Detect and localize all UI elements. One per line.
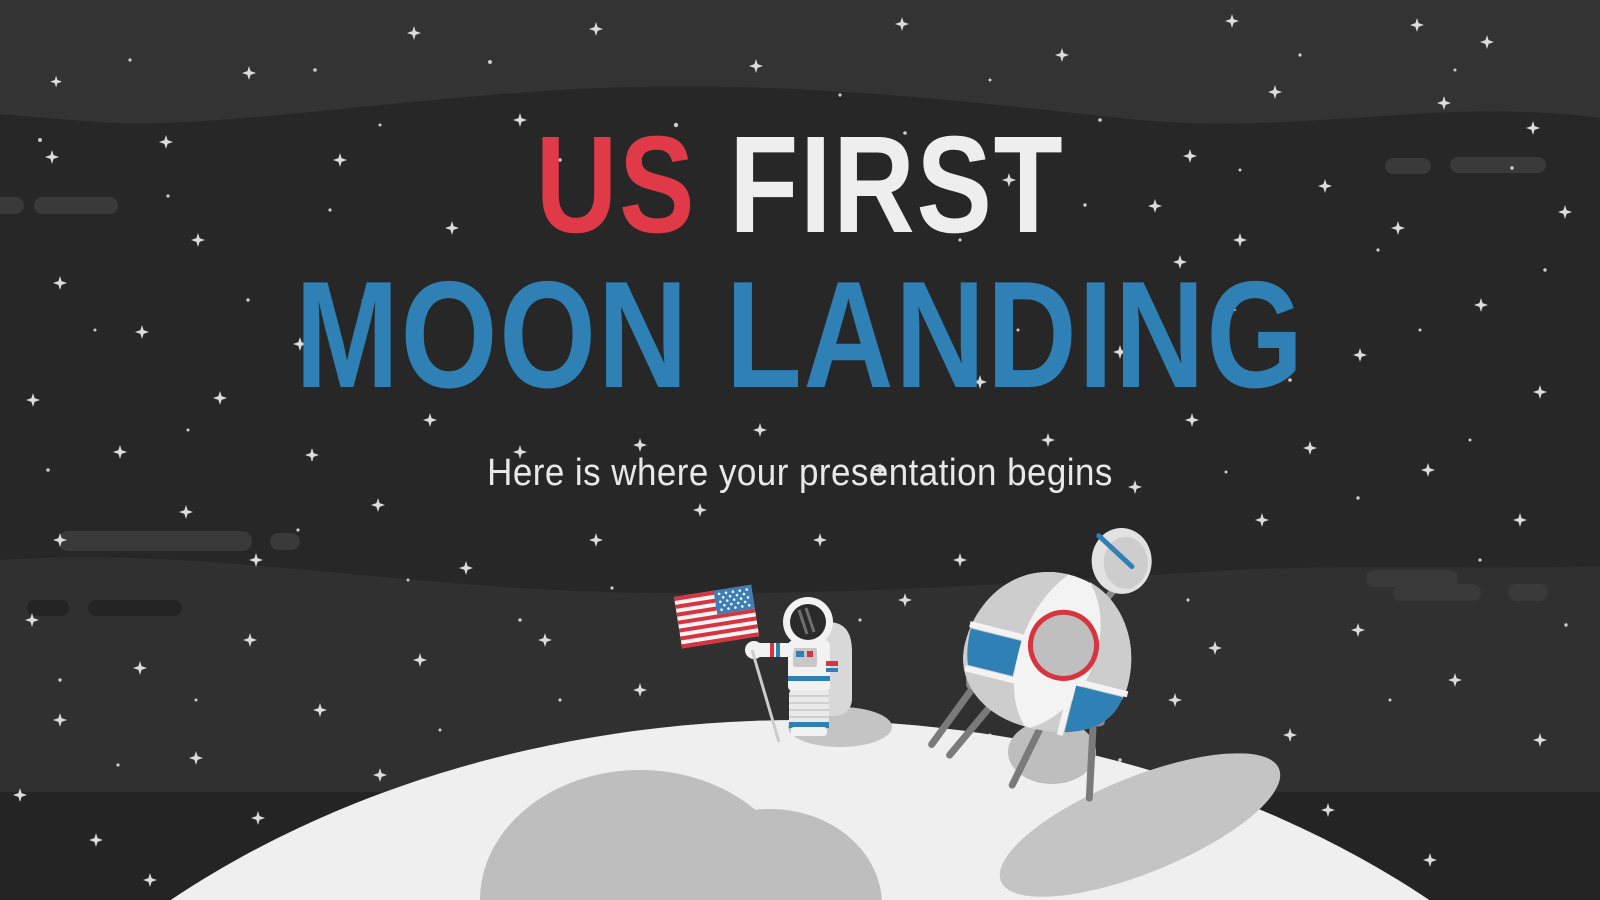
us-flag xyxy=(674,585,779,742)
astronaut-boots xyxy=(791,727,827,736)
arm-stripe-red xyxy=(770,643,774,657)
moon-scene-layer xyxy=(0,0,1600,900)
chest-panel-light xyxy=(796,651,804,657)
satellite-dish xyxy=(1091,527,1153,595)
astronaut-legs xyxy=(789,690,829,736)
torso-blue-stripe xyxy=(788,676,830,681)
arm-stripe-blue xyxy=(776,643,780,657)
chest-panel-light xyxy=(807,651,813,657)
arm-red-stripe xyxy=(826,661,838,666)
astronaut xyxy=(745,597,852,736)
presentation-slide: US FIRST MOON LANDING Here is where your… xyxy=(0,0,1600,900)
chest-panel xyxy=(793,648,817,667)
moon-surface xyxy=(0,720,1600,900)
slide-subtitle: Here is where your presentation begins xyxy=(64,452,1536,495)
arm-blue-stripe xyxy=(826,668,838,672)
